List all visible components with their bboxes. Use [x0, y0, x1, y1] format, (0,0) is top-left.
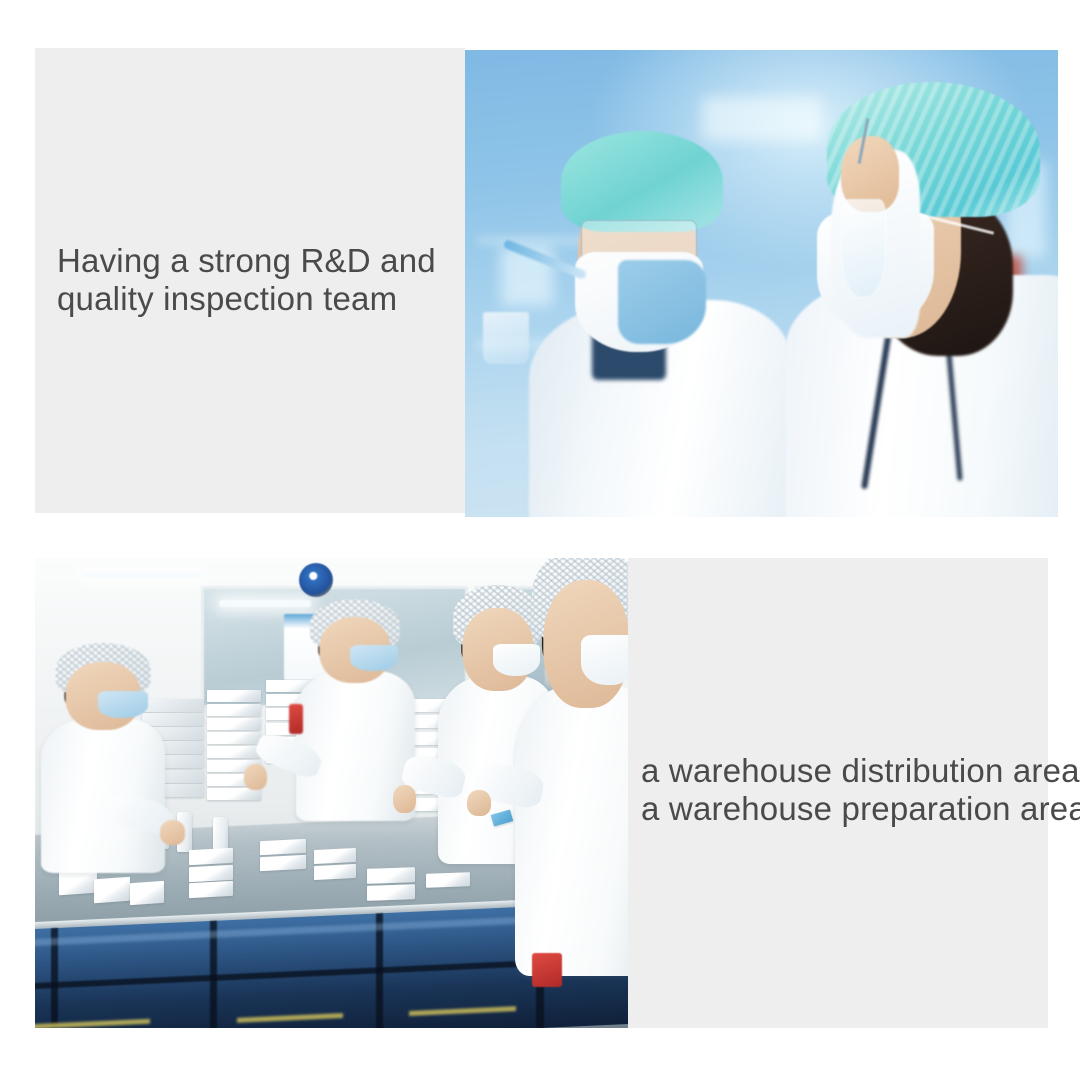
face-mask [581, 635, 628, 685]
red-garment-detail [289, 704, 303, 734]
product-box [207, 704, 261, 716]
product-box [207, 788, 261, 800]
product-box [130, 881, 164, 905]
rd-quality-caption: Having a strong R&D and quality inspecti… [57, 242, 457, 318]
lab-coat [515, 685, 628, 976]
warehouse-worker-4 [515, 685, 628, 976]
product-box [207, 732, 261, 744]
lab-beaker [483, 312, 529, 364]
hand [393, 785, 416, 813]
floor-marking [410, 1006, 516, 1016]
warehouse-caption: a warehouse distribution area a warehous… [641, 752, 1041, 828]
product-box [314, 848, 356, 864]
warehouse-caption-line-2: a warehouse preparation area [641, 790, 1041, 828]
product-box [207, 746, 261, 758]
product-box [142, 699, 204, 712]
slide-canvas: Having a strong R&D and quality inspecti… [0, 0, 1080, 1080]
lab-worker-right [738, 78, 1058, 517]
warehouse-worker-1 [41, 718, 166, 873]
face-mask [98, 691, 148, 717]
ceiling-light-tube [219, 600, 311, 607]
product-box [260, 839, 306, 855]
lab-inspection-photo [465, 50, 1058, 517]
product-box [426, 872, 470, 888]
company-logo-badge [299, 563, 333, 597]
hand [244, 764, 268, 790]
product-box [207, 718, 261, 730]
rd-quality-caption-line-2: quality inspection team [57, 280, 457, 318]
face-mask [493, 644, 540, 676]
product-box [189, 881, 233, 898]
product-box [189, 848, 233, 865]
rd-quality-caption-line-1: Having a strong R&D and [57, 242, 457, 280]
lab-coat [41, 718, 166, 873]
product-box [94, 876, 130, 903]
product-box [207, 690, 261, 702]
lab-hair-net [561, 131, 723, 231]
hand [467, 790, 491, 816]
floor-marking [237, 1013, 343, 1023]
face-mask [350, 645, 397, 671]
product-box [314, 864, 356, 880]
warehouse-packing-photo [35, 558, 628, 1028]
product-box [367, 867, 415, 884]
warehouse-scene [35, 558, 628, 1028]
warehouse-caption-line-1: a warehouse distribution area [641, 752, 1041, 790]
lab-scene [465, 50, 1058, 517]
red-garment-detail [532, 953, 562, 987]
product-box [260, 855, 306, 871]
lab-glass-flask [841, 199, 886, 298]
lab-face-mask-blue [618, 260, 706, 344]
hand [160, 820, 185, 845]
product-box [367, 884, 415, 901]
ceiling-light-tube [82, 572, 202, 578]
product-box [189, 865, 233, 882]
